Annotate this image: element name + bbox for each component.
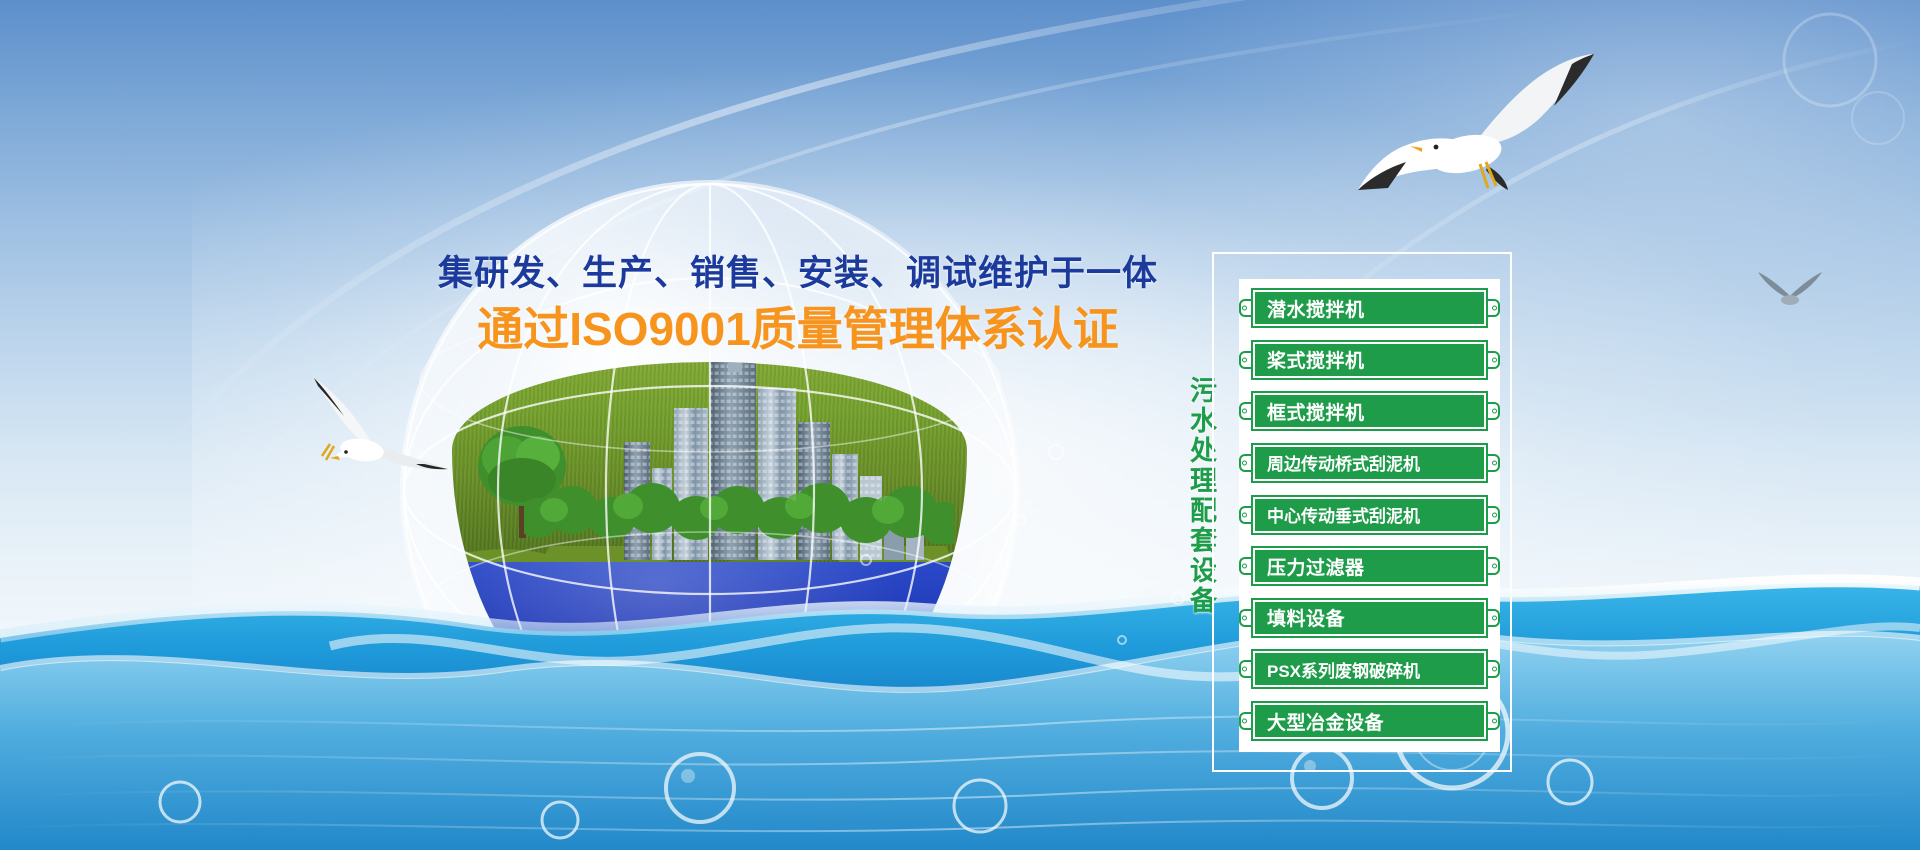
banner-canvas: 集研发、生产、销售、安装、调试维护于一体 通过ISO9001质量管理体系认证 污…: [0, 0, 1920, 850]
plaque-lug-right-icon: [1486, 506, 1500, 524]
plaque-lug-right-icon: [1486, 609, 1500, 627]
headline-block: 集研发、生产、销售、安装、调试维护于一体 通过ISO9001质量管理体系认证: [388, 252, 1208, 357]
plaque-lug-left-icon: [1239, 660, 1253, 678]
product-item-5[interactable]: 中心传动垂式刮泥机: [1251, 495, 1488, 535]
product-panel: 潜水搅拌机桨式搅拌机框式搅拌机周边传动桥式刮泥机中心传动垂式刮泥机压力过滤器填料…: [1212, 252, 1512, 772]
plaque-lug-left-icon: [1239, 557, 1253, 575]
plaque-lug-right-icon: [1486, 351, 1500, 369]
product-item-label: 压力过滤器: [1255, 550, 1484, 582]
headline-secondary: 通过ISO9001质量管理体系认证: [388, 302, 1208, 357]
product-panel-vertical-title: 污水处理配套设备: [1168, 376, 1214, 616]
plaque-lug-left-icon: [1239, 351, 1253, 369]
plaque-lug-left-icon: [1239, 506, 1253, 524]
plaque-lug-left-icon: [1239, 609, 1253, 627]
headline-primary: 集研发、生产、销售、安装、调试维护于一体: [388, 252, 1208, 296]
plaque-lug-right-icon: [1486, 299, 1500, 317]
product-item-label: 大型冶金设备: [1255, 705, 1484, 737]
product-item-label: 填料设备: [1255, 602, 1484, 634]
product-item-label: 桨式搅拌机: [1255, 344, 1484, 376]
product-item-9[interactable]: 大型冶金设备: [1251, 701, 1488, 741]
plaque-lug-left-icon: [1239, 712, 1253, 730]
product-item-label: 框式搅拌机: [1255, 395, 1484, 427]
plaque-lug-right-icon: [1486, 402, 1500, 420]
plaque-lug-left-icon: [1239, 454, 1253, 472]
plaque-lug-right-icon: [1486, 660, 1500, 678]
product-item-6[interactable]: 压力过滤器: [1251, 546, 1488, 586]
product-item-8[interactable]: PSX系列废钢破碎机: [1251, 649, 1488, 689]
plaque-lug-right-icon: [1486, 454, 1500, 472]
product-item-7[interactable]: 填料设备: [1251, 598, 1488, 638]
plaque-lug-right-icon: [1486, 557, 1500, 575]
product-item-3[interactable]: 框式搅拌机: [1251, 391, 1488, 431]
product-item-label: 中心传动垂式刮泥机: [1255, 499, 1484, 531]
product-item-label: 周边传动桥式刮泥机: [1255, 447, 1484, 479]
globe-earth-body: [452, 362, 967, 762]
product-item-2[interactable]: 桨式搅拌机: [1251, 340, 1488, 380]
product-item-4[interactable]: 周边传动桥式刮泥机: [1251, 443, 1488, 483]
product-item-label: PSX系列废钢破碎机: [1255, 653, 1484, 685]
product-item-label: 潜水搅拌机: [1255, 292, 1484, 324]
plaque-lug-left-icon: [1239, 402, 1253, 420]
plaque-lug-right-icon: [1486, 712, 1500, 730]
plaque-lug-left-icon: [1239, 299, 1253, 317]
product-item-1[interactable]: 潜水搅拌机: [1251, 288, 1488, 328]
treeline-icon: [524, 466, 954, 544]
product-list: 潜水搅拌机桨式搅拌机框式搅拌机周边传动桥式刮泥机中心传动垂式刮泥机压力过滤器填料…: [1239, 279, 1500, 752]
